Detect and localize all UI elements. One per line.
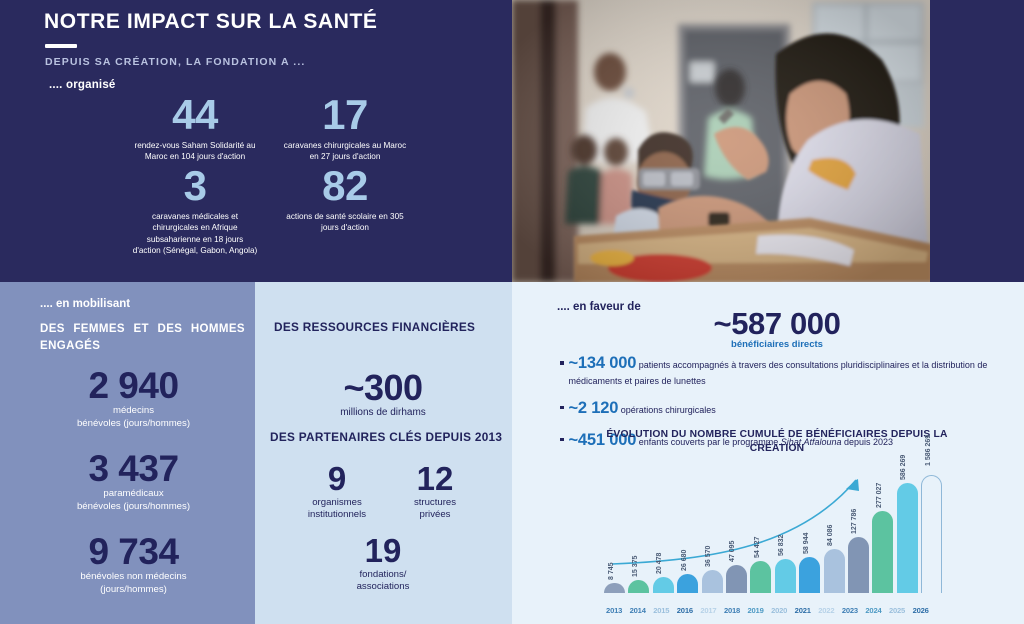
page-title: NOTRE IMPACT SUR LA SANTÉ [44, 10, 378, 34]
stat-caption: caravanes chirurgicales au Maroc en 27 j… [270, 140, 420, 163]
list-item: ~134 000 patients accompagnés à travers … [560, 352, 990, 388]
chart-bar-rect [604, 583, 625, 593]
chart-year-label: 2020 [769, 606, 789, 615]
resources-panel: DES RESSOURCES FINANCIÈRES ~300 millions… [255, 282, 512, 624]
finance-heading: DES RESSOURCES FINANCIÈRES [274, 320, 475, 334]
partner-stat-private: 12 structures privées [385, 462, 485, 522]
stat-card-3: 3 caravanes médicales et chirurgicales e… [120, 167, 270, 261]
partner-caption: organismes institutionnels [287, 497, 387, 522]
chart-year-axis: 2013201420152016201720182019202020212022… [604, 606, 934, 615]
finance-stat: ~300 millions de dirhams [273, 370, 493, 418]
chart-bar-2026: 1 586 269 [921, 475, 942, 593]
stat-caption: médecins bénévoles (jours/hommes) [26, 405, 241, 431]
top-stats-grid: 44 rendez-vous Saham Solidarité au Maroc… [120, 96, 420, 261]
chart-bar-rect [726, 565, 747, 593]
chart-bar-value-label: 586 269 [900, 455, 907, 480]
partner-value: 12 [385, 462, 485, 495]
chart-bar-rect [872, 511, 893, 593]
photo-right-navy-block [930, 0, 1024, 282]
volunteer-stat-doctors: 2 940 médecins bénévoles (jours/hommes) [26, 368, 241, 431]
chart-bar-rect [799, 557, 820, 593]
volunteer-stat-paramedics: 3 437 paramédicaux bénévoles (jours/homm… [26, 451, 241, 514]
bullet-description: opérations chirurgicales [618, 405, 716, 415]
chart-bar-rect [897, 483, 918, 593]
organise-label: .... organisé [49, 79, 116, 91]
chart-bar-2018: 47 095 [726, 475, 747, 593]
stat-value: 17 [270, 96, 420, 135]
chart-bar-value-label: 127 786 [851, 509, 858, 534]
mobilising-label: .... en mobilisant [40, 298, 130, 310]
chart-bar-2019: 54 427 [750, 475, 771, 593]
bullet-square-icon [560, 361, 564, 365]
top-stats-row-2: 3 caravanes médicales et chirurgicales e… [120, 167, 420, 261]
chart-bar-rect [824, 549, 845, 593]
partner-value: 19 [333, 534, 433, 567]
stat-caption: caravanes médicales et chirurgicales en … [120, 211, 270, 258]
list-item: ~2 120 opérations chirurgicales [560, 397, 990, 420]
favour-label: .... en faveur de [557, 301, 641, 313]
chart-year-label: 2022 [816, 606, 836, 615]
chart-bar-2016: 26 680 [677, 475, 698, 593]
partner-value: 9 [287, 462, 387, 495]
mobilising-heading: DES FEMMES ET DES HOMMES ENGAGÉS [40, 321, 245, 354]
chart-bar-rect [677, 574, 698, 593]
chart-bar-2020: 56 832 [775, 475, 796, 593]
chart-year-label: 2024 [863, 606, 883, 615]
chart-bar-rect [848, 537, 869, 593]
chart-bar-value-label: 8 745 [608, 562, 615, 580]
partners-heading: DES PARTENAIRES CLÉS DEPUIS 2013 [270, 430, 502, 444]
chart-bar-rect [775, 559, 796, 593]
stat-card-17: 17 caravanes chirurgicales au Maroc en 2… [270, 96, 420, 167]
partner-stat-institutional: 9 organismes institutionnels [287, 462, 387, 522]
stat-value: 9 734 [26, 534, 241, 569]
chart-year-label: 2015 [651, 606, 671, 615]
chart-year-label: 2013 [604, 606, 624, 615]
bullet-value: ~134 000 [569, 354, 637, 372]
chart-bar-rect [653, 577, 674, 593]
chart-bar-value-label: 26 680 [681, 550, 688, 571]
stat-caption: rendez-vous Saham Solidarité au Maroc en… [120, 140, 270, 163]
finance-value: ~300 [273, 370, 493, 406]
title-underline-rule [45, 44, 77, 48]
chart-year-label: 2025 [887, 606, 907, 615]
chart-bar-rect [702, 570, 723, 593]
bullet-text: ~134 000 patients accompagnés à travers … [569, 352, 991, 388]
infographic-page: NOTRE IMPACT SUR LA SANTÉ DEPUIS SA CRÉA… [0, 0, 1024, 624]
chart-year-label: 2018 [722, 606, 742, 615]
chart-year-label: 2019 [745, 606, 765, 615]
beneficiaries-hero-value: ~587 000 [632, 306, 922, 342]
chart-bar-2013: 8 745 [604, 475, 625, 593]
chart-bar-2025: 586 269 [897, 475, 918, 593]
stat-card-82: 82 actions de santé scolaire en 305 jour… [270, 167, 420, 261]
chart-bar-rect [750, 561, 771, 593]
chart-title: ÉVOLUTION DU NOMBRE CUMULÉ DE BÉNÉFICIAI… [592, 428, 962, 457]
hero-photo [512, 0, 930, 282]
chart-bar-value-label: 47 095 [729, 541, 736, 562]
top-header-panel: NOTRE IMPACT SUR LA SANTÉ DEPUIS SA CRÉA… [0, 0, 512, 282]
chart-bar-value-label: 56 832 [778, 535, 785, 556]
bullet-square-icon [560, 406, 564, 410]
stat-value: 3 [120, 167, 270, 206]
chart-bar-value-label: 54 427 [754, 537, 761, 558]
chart-bar-value-label: 277 027 [876, 483, 883, 508]
chart-year-label: 2016 [675, 606, 695, 615]
chart-bar-rect [628, 580, 649, 593]
chart-bar-value-label: 36 570 [705, 546, 712, 567]
beneficiaries-hero-caption: bénéficiaires directs [632, 339, 922, 350]
stat-caption: bénévoles non médecins (jours/hommes) [26, 571, 241, 597]
chart-bars: 8 74515 37520 47826 68036 57047 09554 42… [604, 475, 934, 593]
stat-caption: paramédicaux bénévoles (jours/hommes) [26, 488, 241, 514]
stat-value: 44 [120, 96, 270, 135]
chart-bar-value-label: 20 478 [656, 553, 663, 574]
stat-value: 2 940 [26, 368, 241, 403]
bullet-text: ~2 120 opérations chirurgicales [569, 397, 716, 420]
chart-year-label: 2014 [628, 606, 648, 615]
chart-year-label: 2023 [840, 606, 860, 615]
stat-value: 3 437 [26, 451, 241, 486]
partner-caption: fondations/ associations [333, 569, 433, 594]
chart-bar-value-label: 1 586 269 [925, 435, 932, 466]
chart-bar-2017: 36 570 [702, 475, 723, 593]
chart-bar-2021: 58 944 [799, 475, 820, 593]
chart-bar-2024: 277 027 [872, 475, 893, 593]
mobilising-panel: .... en mobilisant DES FEMMES ET DES HOM… [0, 282, 255, 624]
stat-card-44: 44 rendez-vous Saham Solidarité au Maroc… [120, 96, 270, 167]
chart-year-label: 2026 [911, 606, 931, 615]
chart-bar-value-label: 15 375 [632, 556, 639, 577]
partner-caption: structures privées [385, 497, 485, 522]
top-stats-row-1: 44 rendez-vous Saham Solidarité au Maroc… [120, 96, 420, 167]
beneficiaries-panel: .... en faveur de ~587 000 bénéficiaires… [512, 282, 1024, 624]
stat-value: 82 [270, 167, 420, 206]
chart-bar-value-label: 58 944 [803, 533, 810, 554]
bullet-square-icon [560, 438, 564, 442]
beneficiaries-chart: 8 74515 37520 47826 68036 57047 09554 42… [604, 460, 934, 615]
chart-bar-value-label: 84 086 [827, 525, 834, 546]
chart-bar-2015: 20 478 [653, 475, 674, 593]
stat-caption: actions de santé scolaire en 305 jours d… [270, 211, 420, 234]
photo-illustration [512, 0, 930, 282]
bullet-value: ~2 120 [569, 399, 619, 417]
chart-year-label: 2021 [793, 606, 813, 615]
chart-bar-2023: 127 786 [848, 475, 869, 593]
chart-year-label: 2017 [698, 606, 718, 615]
finance-caption: millions de dirhams [273, 407, 493, 418]
chart-bar-rect [921, 475, 942, 593]
volunteer-stat-nonmedical: 9 734 bénévoles non médecins (jours/homm… [26, 534, 241, 597]
partner-stat-foundations: 19 fondations/ associations [333, 534, 433, 594]
header-subtitle: DEPUIS SA CRÉATION, LA FONDATION A ... [45, 56, 305, 68]
chart-bar-2022: 84 086 [824, 475, 845, 593]
chart-bar-2014: 15 375 [628, 475, 649, 593]
